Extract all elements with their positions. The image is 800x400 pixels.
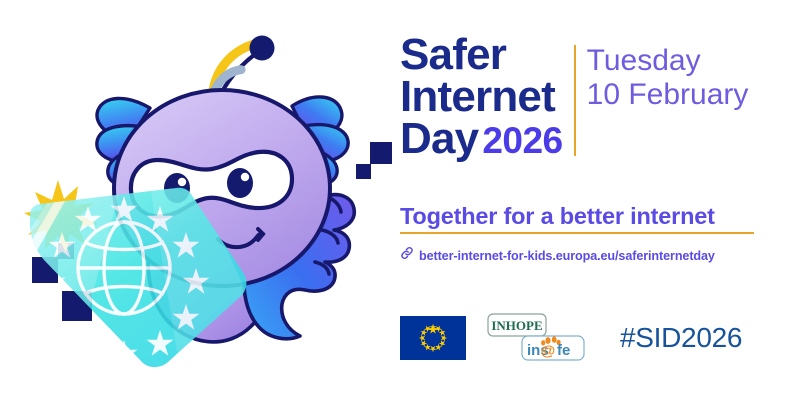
date-block: Tuesday 10 February <box>587 44 749 111</box>
campaign-url-row[interactable]: better-internet-for-kids.europa.eu/safer… <box>400 246 715 265</box>
title-block: Safer Internet Day 2026 Tuesday 10 Febru… <box>400 34 748 161</box>
tagline-wrap: Together for a better internet <box>400 203 754 234</box>
campaign-url[interactable]: better-internet-for-kids.europa.eu/safer… <box>419 249 715 263</box>
campaign-year: 2026 <box>482 123 562 159</box>
decorative-squares-right <box>356 142 392 179</box>
link-icon <box>400 246 414 265</box>
date-weekday: Tuesday <box>587 44 749 78</box>
date-divider <box>574 45 576 156</box>
campaign-content: Safer Internet Day 2026 Tuesday 10 Febru… <box>396 0 800 400</box>
title-line-3: Day <box>400 118 478 160</box>
title-line-3-row: Day 2026 <box>400 118 563 160</box>
logo-row: INHOPE ins @ fe #SID2026 <box>400 312 742 364</box>
mascot-artwork <box>0 0 400 400</box>
date-day: 10 February <box>587 78 749 112</box>
insafe-at-symbol: @ <box>541 343 556 360</box>
inhope-insafe-logo: INHOPE ins @ fe <box>486 312 590 364</box>
title-line-2: Internet <box>400 76 563 118</box>
hashtag: #SID2026 <box>620 322 742 354</box>
eu-flag-icon <box>400 316 466 360</box>
title-line-1: Safer <box>400 34 563 76</box>
title-lines: Safer Internet Day 2026 <box>400 34 563 161</box>
safer-internet-day-banner: Safer Internet Day 2026 Tuesday 10 Febru… <box>0 0 800 400</box>
tagline-underline <box>400 232 754 234</box>
tagline: Together for a better internet <box>400 203 754 230</box>
right-eye <box>227 168 253 198</box>
inhope-label: INHOPE <box>491 318 542 333</box>
insafe-suffix: fe <box>557 342 570 359</box>
